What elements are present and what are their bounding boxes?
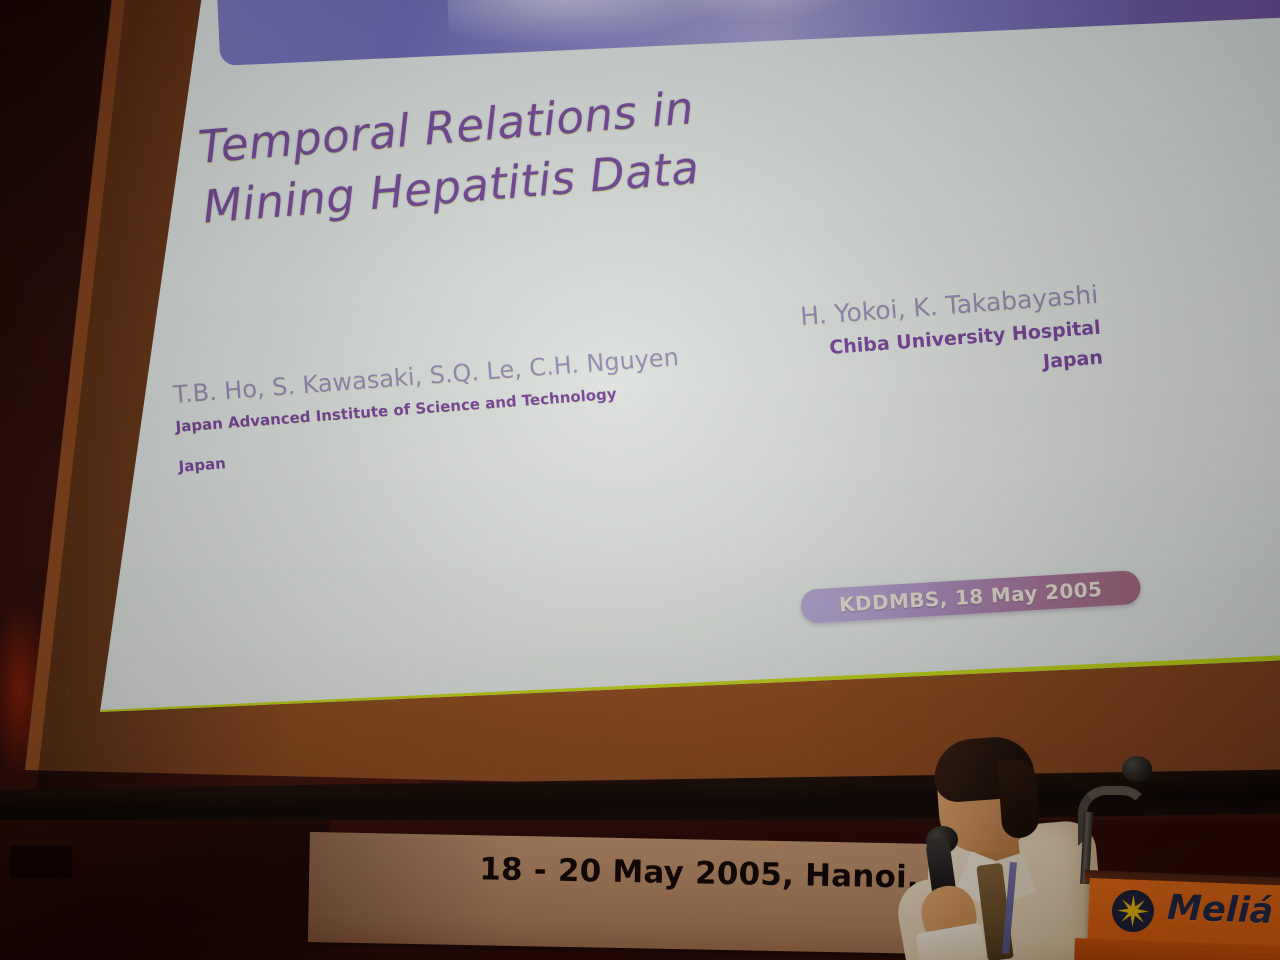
conference-photo-scene: Temporal Relations in Mining Hepatitis D… <box>0 0 1280 960</box>
slide-footer-badge-label: KDDMBS, 18 May 2005 <box>838 577 1103 617</box>
starburst-icon <box>1111 889 1155 933</box>
lower-room-dark-area <box>0 820 330 960</box>
slide-footer-badge: KDDMBS, 18 May 2005 <box>800 570 1141 624</box>
podium-brand-label: Meliá <box>1166 888 1274 932</box>
slide-title: Temporal Relations in Mining Hepatitis D… <box>196 52 1023 237</box>
slide-authors-right: H. Yokoi, K. Takabayashi Chiba Universit… <box>628 277 1104 408</box>
conference-banner: 18 - 20 May 2005, Hanoi, Vietnam <box>308 832 970 955</box>
gooseneck-microphone-head <box>1122 756 1152 782</box>
slide-header-cloud-texture-2 <box>645 0 879 28</box>
slide-background: Temporal Relations in Mining Hepatitis D… <box>0 0 1280 760</box>
lower-room-dark-panel <box>10 845 72 879</box>
projected-slide: Temporal Relations in Mining Hepatitis D… <box>0 0 1280 760</box>
speaker-hair-side <box>997 759 1040 839</box>
slide-header-bar <box>215 0 1280 66</box>
